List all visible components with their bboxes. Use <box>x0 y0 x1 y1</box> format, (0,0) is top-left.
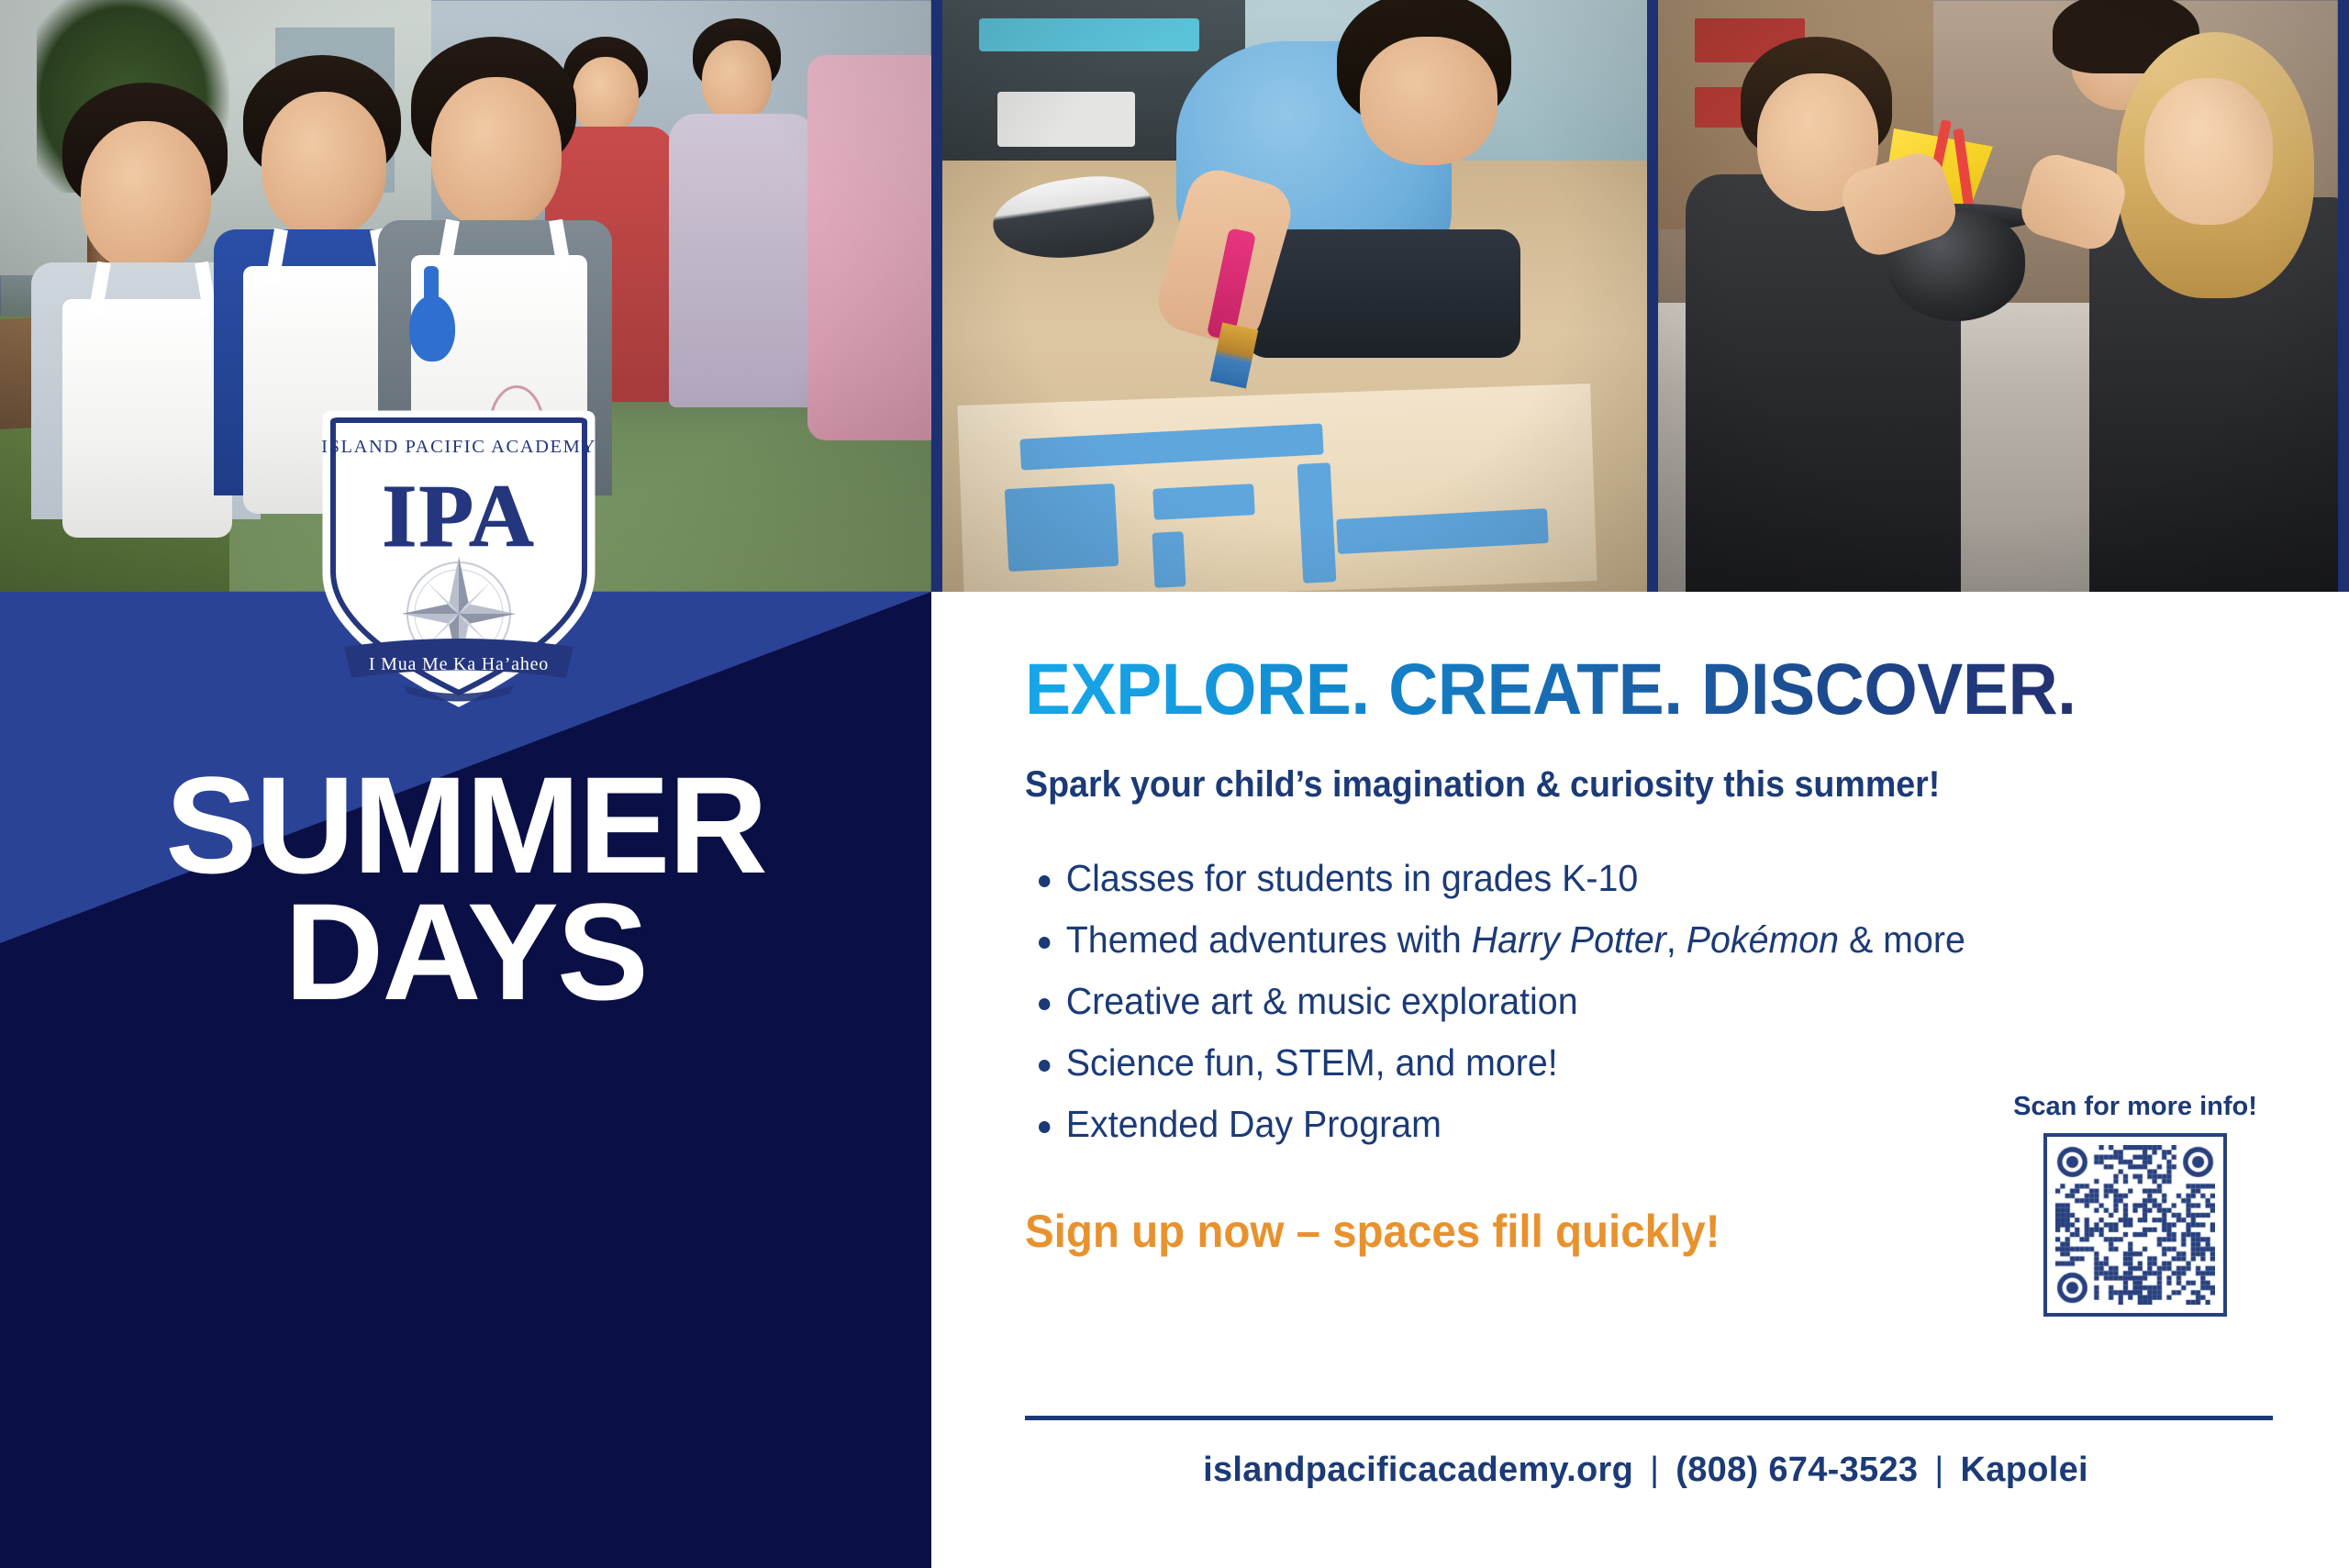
bullet-dot-icon <box>1039 1121 1050 1133</box>
list-item-text: Themed adventures with Harry Potter, Pok… <box>1066 921 1965 959</box>
list-item-text: Classes for students in grades K-10 <box>1066 860 1639 897</box>
ipa-logo: ISLAND PACIFIC ACADEMY IPA I Mua Me Ka H… <box>317 410 601 713</box>
left-title-panel: SUMMER DAYS AT ISLAND PACIFIC ACADEMY JU… <box>0 592 931 1568</box>
qr-code[interactable] <box>2043 1133 2227 1317</box>
list-item-text: Extended Day Program <box>1066 1106 1442 1143</box>
bullet-dot-icon <box>1039 1060 1050 1072</box>
title-line-2: DAYS <box>0 888 931 1015</box>
photo-2-child-head <box>1360 37 1497 165</box>
list-item-text: Science fun, STEM, and more! <box>1066 1044 1558 1082</box>
logo-school-name: ISLAND PACIFIC ACADEMY <box>321 437 596 457</box>
phone-number[interactable]: (808) 674-3523 <box>1675 1451 1918 1489</box>
photo-2-paint-stroke <box>1152 531 1186 588</box>
qr-canvas[interactable] <box>2055 1145 2215 1305</box>
signup-cta: Sign up now – spaces fill quickly! <box>1025 1205 1720 1258</box>
photo-2-paint-stroke <box>1297 462 1337 584</box>
qr-caption: Scan for more info! <box>2011 1092 2259 1122</box>
subtitle: Spark your child’s imagination & curiosi… <box>1025 764 1940 806</box>
list-item: Science fun, STEM, and more! <box>1039 1044 2237 1082</box>
list-item: Themed adventures with Harry Potter, Pok… <box>1039 921 2237 959</box>
summer-days-title: SUMMER DAYS <box>0 762 931 1015</box>
footer-divider <box>1025 1416 2273 1420</box>
bullet-dot-icon <box>1039 998 1050 1010</box>
photo-students-cauldron <box>1658 0 2338 592</box>
bullet-dot-icon <box>1039 875 1050 887</box>
city-label: Kapolei <box>1961 1451 2088 1489</box>
bullet-dot-icon <box>1039 937 1050 949</box>
list-item-text: Creative art & music exploration <box>1066 983 1578 1020</box>
photo-2-child-shorts <box>1245 229 1520 358</box>
footer-separator: | <box>1633 1451 1675 1489</box>
list-item: Creative art & music exploration <box>1039 983 2237 1020</box>
right-content-panel: EXPLORE. CREATE. DISCOVER. Spark your ch… <box>942 592 2349 1568</box>
photo-divider <box>1647 0 1658 592</box>
photo-2-shelf-item <box>979 18 1199 51</box>
title-line-1: SUMMER <box>0 762 931 888</box>
website-link[interactable]: islandpacificacademy.org <box>1203 1451 1633 1489</box>
headline: EXPLORE. CREATE. DISCOVER. <box>1025 647 2076 731</box>
photo-2-bin <box>997 92 1135 147</box>
footer-separator: | <box>1918 1451 1960 1489</box>
list-item: Classes for students in grades K-10 <box>1039 860 2237 897</box>
photo-2-paint-stroke <box>1152 484 1255 520</box>
photo-2-paint-stroke <box>1005 484 1119 572</box>
photo-3-child-head-right <box>2144 78 2273 225</box>
logo-monogram: IPA <box>382 467 536 566</box>
qr-block: Scan for more info! <box>2011 1092 2259 1317</box>
photo-divider <box>931 0 942 592</box>
footer-contact: islandpacificacademy.org|(808) 674-3523|… <box>942 1451 2349 1490</box>
photo-student-painting <box>942 0 1647 592</box>
logo-motto: I Mua Me Ka Ha’aheo <box>369 654 549 674</box>
